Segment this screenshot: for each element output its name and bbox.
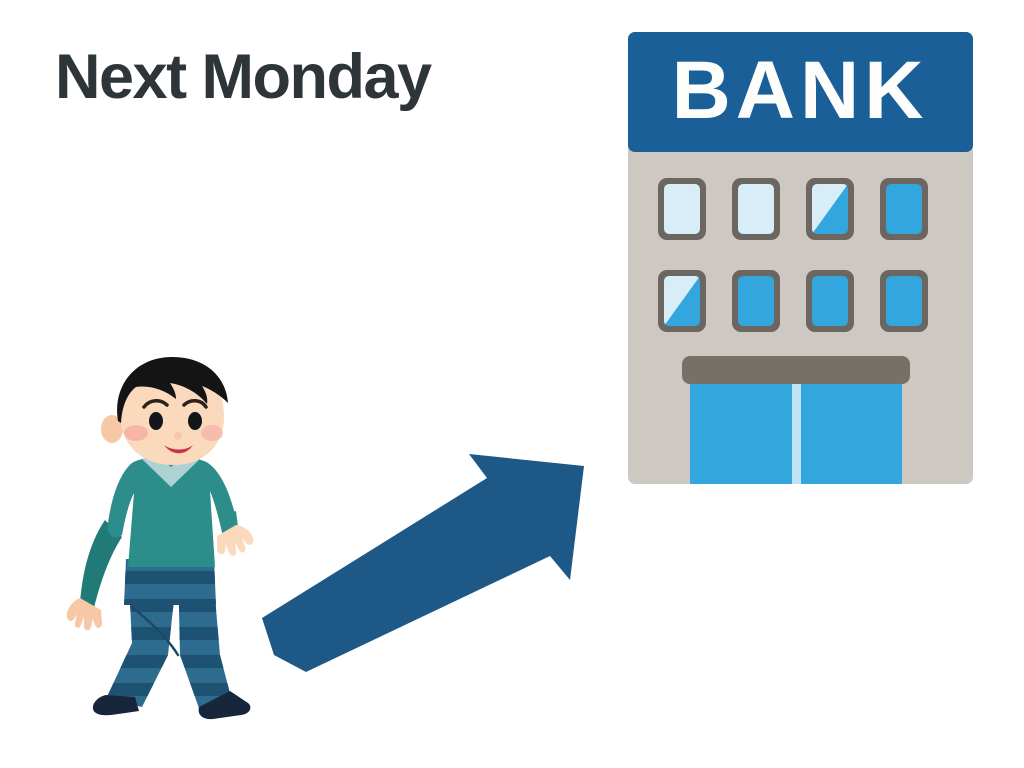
window-blue xyxy=(806,270,854,332)
window-blue xyxy=(880,178,928,240)
direction-arrow-svg xyxy=(262,440,602,675)
bank-awning xyxy=(682,356,910,384)
window-split xyxy=(806,178,854,240)
bank-sign-text: BANK xyxy=(672,45,929,136)
page-title: Next Monday xyxy=(55,46,431,109)
illustration-canvas: Next Monday xyxy=(0,0,1024,768)
direction-arrow xyxy=(262,440,602,675)
man-front-arm xyxy=(217,511,253,556)
bank-building: BANK xyxy=(620,26,980,496)
walking-man xyxy=(60,355,270,730)
walking-man-svg xyxy=(60,355,270,730)
window-pale xyxy=(658,178,706,240)
bank-entrance-doors[interactable] xyxy=(682,356,910,486)
window-blue xyxy=(732,270,780,332)
window-blue xyxy=(880,270,928,332)
window-split xyxy=(658,270,706,332)
man-head xyxy=(101,357,228,465)
window-pale xyxy=(732,178,780,240)
bank-building-svg: BANK xyxy=(620,26,980,496)
